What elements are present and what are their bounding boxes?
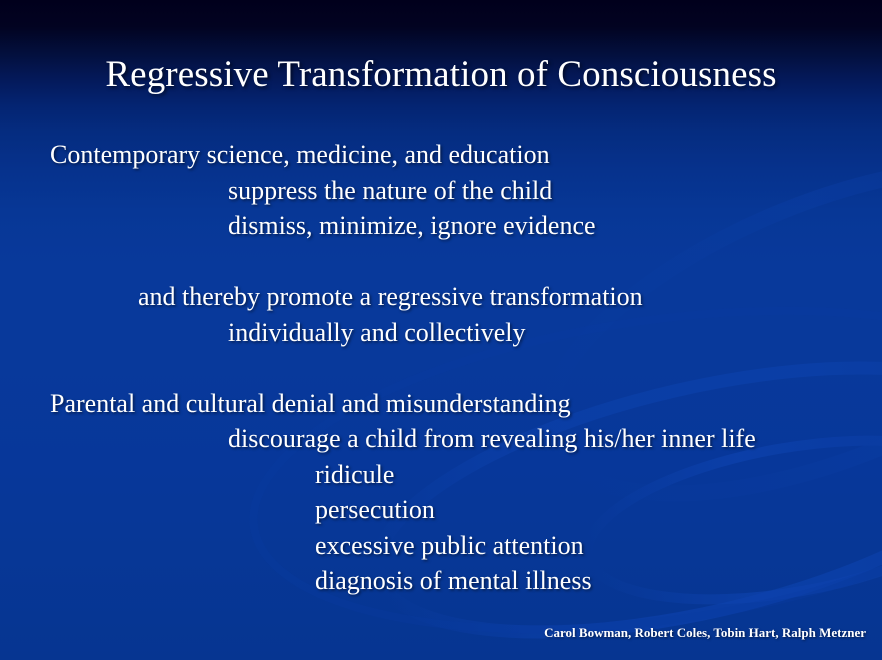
slide-title: Regressive Transformation of Consciousne… bbox=[0, 52, 882, 98]
presentation-slide: Regressive Transformation of Consciousne… bbox=[0, 0, 882, 660]
body-line: diagnosis of mental illness bbox=[0, 563, 882, 599]
footer-attribution: Carol Bowman, Robert Coles, Tobin Hart, … bbox=[0, 624, 866, 641]
body-line: Contemporary science, medicine, and educ… bbox=[0, 137, 882, 173]
slide-body: Contemporary science, medicine, and educ… bbox=[0, 137, 882, 599]
body-line: dismiss, minimize, ignore evidence bbox=[0, 208, 882, 244]
body-line: excessive public attention bbox=[0, 528, 882, 564]
body-line: individually and collectively bbox=[0, 315, 882, 351]
body-line: discourage a child from revealing his/he… bbox=[0, 421, 882, 457]
body-line: suppress the nature of the child bbox=[0, 173, 882, 209]
body-line: and thereby promote a regressive transfo… bbox=[0, 279, 882, 315]
body-line: persecution bbox=[0, 492, 882, 528]
body-line: Parental and cultural denial and misunde… bbox=[0, 386, 882, 422]
body-line-spacer bbox=[0, 350, 882, 386]
body-line-spacer bbox=[0, 244, 882, 280]
body-line: ridicule bbox=[0, 457, 882, 493]
